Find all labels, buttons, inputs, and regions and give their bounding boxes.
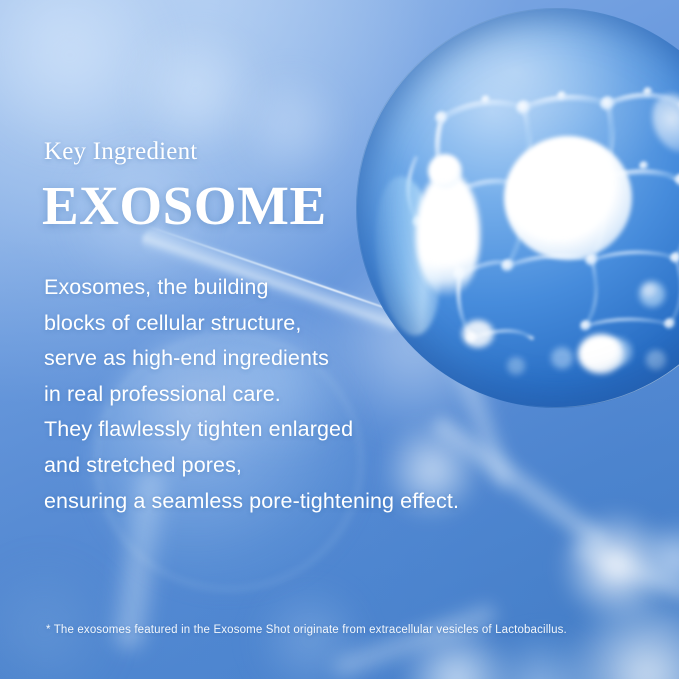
body-line: They flawlessly tighten enlarged	[44, 412, 644, 448]
body-line: blocks of cellular structure,	[44, 306, 644, 342]
page-title: EXOSOME	[42, 178, 327, 233]
eyebrow-label: Key Ingredient	[44, 139, 197, 164]
body-line: ensuring a seamless pore-tightening effe…	[44, 484, 644, 520]
body-paragraph: Exosomes, the building blocks of cellula…	[44, 270, 644, 519]
footnote-disclaimer: * The exosomes featured in the Exosome S…	[46, 622, 567, 638]
body-line: Exosomes, the building	[44, 270, 644, 306]
exosome-key-ingredient-banner: Key Ingredient EXOSOME Exosomes, the bui…	[0, 0, 679, 679]
body-line: serve as high-end ingredients	[44, 341, 644, 377]
text-content: Key Ingredient EXOSOME Exosomes, the bui…	[0, 0, 679, 679]
body-line: and stretched pores,	[44, 448, 644, 484]
body-line: in real professional care.	[44, 377, 644, 413]
